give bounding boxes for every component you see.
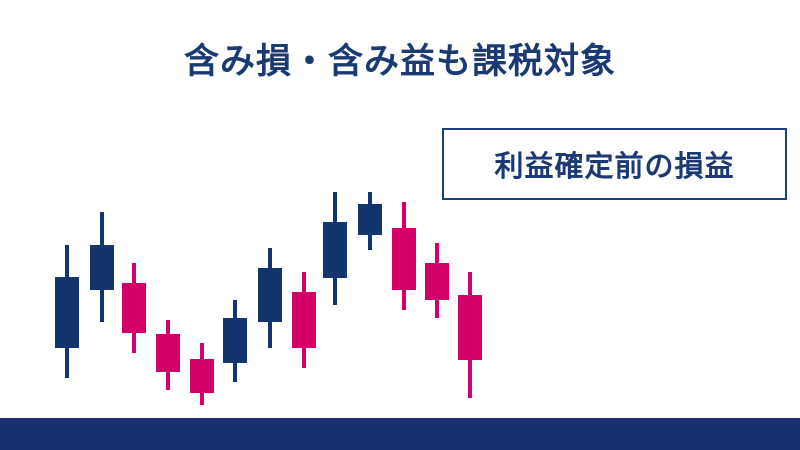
footer-bar: [0, 418, 800, 450]
candlestick-body: [156, 334, 180, 372]
candlestick-body: [55, 277, 79, 348]
candlestick-body: [122, 283, 146, 333]
candlestick-body: [292, 292, 316, 348]
candlestick-chart: [0, 0, 800, 450]
candlestick-body: [358, 204, 382, 235]
slide-canvas: 含み損・含み益も課税対象 利益確定前の損益: [0, 0, 800, 450]
candlestick-body: [258, 268, 282, 322]
candlestick-body: [223, 318, 247, 363]
candlestick-body: [323, 222, 347, 278]
candlestick-body: [392, 228, 416, 290]
candlestick-body: [190, 359, 214, 393]
candlestick-body: [458, 295, 482, 360]
candlestick-body: [425, 263, 449, 300]
candlestick-body: [90, 245, 114, 290]
